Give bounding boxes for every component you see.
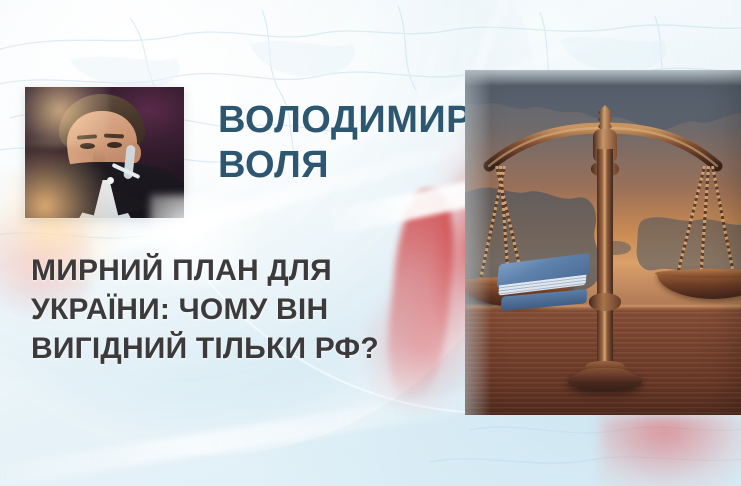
photo-glow-bottom [25, 140, 117, 218]
scale-knob-mid [589, 293, 621, 311]
justice-scales-panel [465, 70, 741, 415]
red-splash-bottom [600, 415, 741, 486]
photo-glow-top [25, 87, 109, 147]
news-thumbnail-banner: ВОЛОДИМИР ВОЛЯ МИРНИЙ ПЛАН ДЛЯ УКРАЇНИ: … [0, 0, 741, 486]
headline-line-2: УКРАЇНИ: ЧОМУ ВІН [31, 290, 461, 329]
headline: МИРНИЙ ПЛАН ДЛЯ УКРАЇНИ: ЧОМУ ВІН ВИГІДН… [31, 251, 461, 368]
balance-scale [465, 70, 741, 415]
headline-line-1: МИРНИЙ ПЛАН ДЛЯ [31, 251, 461, 290]
headline-line-3: ВИГІДНИЙ ТІЛЬКИ РФ? [31, 329, 461, 368]
panel-top-haze [465, 70, 741, 86]
panel-left-haze [465, 70, 491, 415]
scale-base [568, 371, 642, 391]
scale-column [597, 149, 613, 367]
